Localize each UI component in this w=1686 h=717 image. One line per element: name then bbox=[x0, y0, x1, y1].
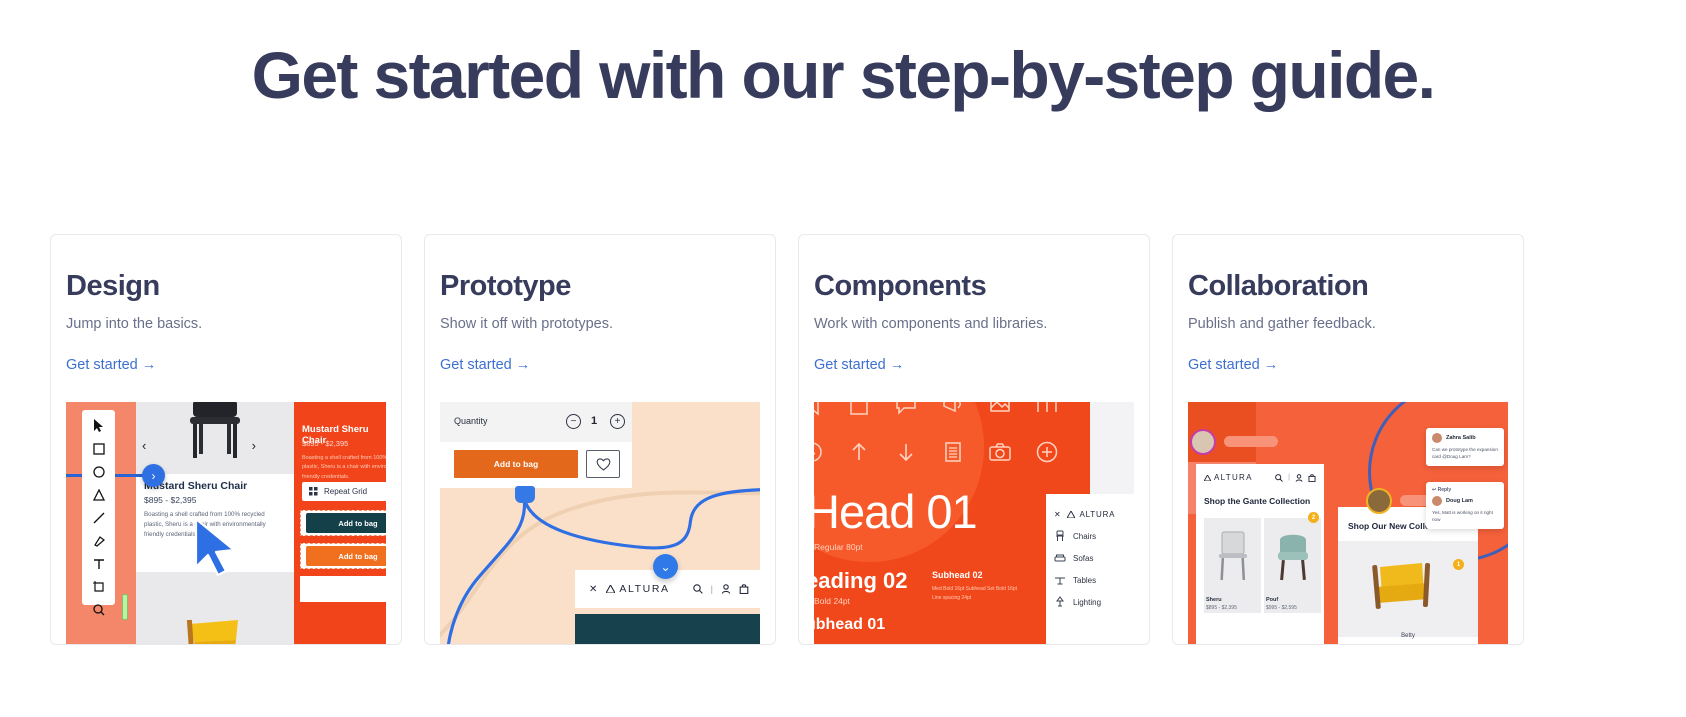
library-item-sofas[interactable]: Sofas bbox=[1054, 547, 1134, 569]
library-item-label: Sofas bbox=[1073, 554, 1093, 563]
selection-handle[interactable] bbox=[122, 594, 128, 620]
nav-icons: | bbox=[693, 584, 749, 594]
comment-body: Can we prototype the expansion card @Dou… bbox=[1432, 446, 1498, 461]
nav-divider: | bbox=[1288, 474, 1290, 481]
add-to-bag-button-dark[interactable]: Add to bag bbox=[306, 513, 386, 533]
chevron-down-icon[interactable]: ⌄ bbox=[653, 554, 678, 579]
comment-header: Doug Lam bbox=[1432, 496, 1498, 506]
heading-01-meta: Regular 80pt bbox=[814, 542, 863, 552]
rectangle-tool-icon[interactable] bbox=[92, 443, 106, 455]
grey-chair-icon bbox=[1213, 530, 1253, 582]
archive-icon bbox=[1035, 402, 1059, 416]
components-canvas: Head 01 Regular 80pt eading 02 Bold 24pt… bbox=[814, 402, 1134, 644]
product-name: Sheru bbox=[1206, 597, 1222, 603]
panel-brand-row: ✕ ALTURA bbox=[1054, 503, 1134, 525]
product-name: Pouf bbox=[1266, 597, 1278, 603]
hotspot-handle[interactable]: › bbox=[142, 464, 165, 487]
bag-icon[interactable] bbox=[1308, 474, 1316, 482]
heading-02-sample: eading 02 bbox=[814, 568, 907, 594]
account-icon[interactable] bbox=[1295, 474, 1303, 482]
card-illustration-design: ‹ › Mustard Sheru Chair $895 - $2,395 Bo… bbox=[66, 402, 386, 644]
product-price: $895 - $2,395 bbox=[144, 495, 196, 505]
line-tool-icon[interactable] bbox=[92, 512, 106, 524]
table-icon bbox=[1054, 574, 1066, 586]
grid-icon bbox=[309, 487, 318, 496]
card-title: Design bbox=[66, 270, 401, 303]
upload-icon bbox=[847, 440, 871, 464]
download-icon bbox=[894, 440, 918, 464]
footer-band bbox=[575, 614, 760, 644]
chair-icon bbox=[1054, 530, 1066, 542]
comment-card-doug[interactable]: ↩ Reply Doug Lam Yes, Matt is working on… bbox=[1426, 482, 1504, 529]
altura-mark-icon bbox=[1204, 475, 1211, 481]
card-components[interactable]: Components Work with components and libr… bbox=[798, 234, 1150, 645]
bookmark-icon bbox=[814, 402, 824, 416]
brand-logo: ALTURA bbox=[606, 583, 669, 595]
product-grid: Sheru $895 - $2,395 2 bbox=[1204, 518, 1324, 613]
get-started-link[interactable]: Get started → bbox=[1188, 357, 1278, 373]
card-illustration-collaboration: ALTURA | Shop the Gante Collection bbox=[1188, 402, 1508, 644]
clock-icon bbox=[814, 440, 824, 464]
chat-icon bbox=[894, 402, 918, 416]
nav-icons: | bbox=[1275, 474, 1316, 482]
library-item-label: Lighting bbox=[1073, 598, 1101, 607]
cursor-tool-icon[interactable] bbox=[92, 419, 106, 432]
search-icon[interactable] bbox=[693, 584, 703, 594]
wishlist-button[interactable] bbox=[586, 450, 620, 478]
card-title: Components bbox=[814, 270, 1149, 303]
browser-nav-1: ALTURA | bbox=[1196, 464, 1324, 482]
prototype-canvas: Quantity − 1 + Add to bag ⌄ bbox=[440, 402, 760, 644]
card-collaboration[interactable]: Collaboration Publish and gather feedbac… bbox=[1172, 234, 1524, 645]
comment-author: Doug Lam bbox=[1446, 498, 1473, 504]
quantity-label: Quantity bbox=[454, 416, 488, 426]
heading-02-meta: Bold 24pt bbox=[814, 596, 850, 606]
subhead-01-sample: ubhead 01 bbox=[814, 616, 885, 634]
card-subtitle: Work with components and libraries. bbox=[814, 316, 1149, 332]
camera-icon bbox=[988, 440, 1012, 464]
card-design[interactable]: Design Jump into the basics. Get started… bbox=[50, 234, 402, 645]
comment-header: Zahra Salib bbox=[1432, 433, 1498, 443]
artboard-tool-icon[interactable] bbox=[92, 581, 106, 593]
comment-badge-1[interactable]: 1 bbox=[1453, 559, 1464, 570]
search-icon[interactable] bbox=[1275, 474, 1283, 482]
ellipse-tool-icon[interactable] bbox=[92, 466, 106, 478]
yellow-chair-icon bbox=[184, 600, 246, 644]
browser-window-1: ALTURA | Shop the Gante Collection bbox=[1196, 464, 1324, 644]
product-label-betty: Betty bbox=[1401, 633, 1415, 639]
library-item-label: Tables bbox=[1073, 576, 1096, 585]
repeat-grid-label: Repeat Grid bbox=[324, 487, 367, 496]
comment-body: Yes, Matt is working on it right now bbox=[1432, 509, 1498, 524]
collection-title-1: Shop the Gante Collection bbox=[1204, 496, 1324, 506]
comment-author: Zahra Salib bbox=[1446, 435, 1476, 441]
brand-logo: ALTURA bbox=[1204, 473, 1253, 482]
quantity-decrement-button[interactable]: − bbox=[566, 414, 581, 429]
card-header: Components Work with components and libr… bbox=[799, 235, 1149, 374]
page-root: Get started with our step-by-step guide.… bbox=[0, 0, 1686, 717]
plus-icon bbox=[1035, 440, 1059, 464]
hero-product-image: 1 Betty bbox=[1338, 541, 1478, 637]
nav-divider: | bbox=[711, 584, 713, 594]
megaphone-icon bbox=[941, 402, 965, 416]
lamp-icon bbox=[1054, 596, 1066, 608]
presence-pill-1 bbox=[1224, 436, 1278, 447]
comment-badge-2[interactable]: 2 bbox=[1308, 512, 1319, 523]
library-item-chairs[interactable]: Chairs bbox=[1054, 525, 1134, 547]
tool-palette[interactable] bbox=[82, 410, 115, 605]
card-title: Prototype bbox=[440, 270, 775, 303]
card-grid: Design Jump into the basics. Get started… bbox=[50, 234, 1524, 645]
button-frame-3 bbox=[300, 576, 386, 602]
close-icon[interactable]: ✕ bbox=[1054, 510, 1062, 519]
card-illustration-prototype: Quantity − 1 + Add to bag ⌄ bbox=[440, 402, 760, 644]
avatar bbox=[1432, 496, 1442, 506]
get-started-link[interactable]: Get started → bbox=[66, 357, 156, 373]
card-prototype[interactable]: Prototype Show it off with prototypes. G… bbox=[424, 234, 776, 645]
product-price: $995 - $2,595 bbox=[1266, 605, 1297, 611]
close-icon[interactable]: ✕ bbox=[589, 584, 597, 595]
reply-label[interactable]: ↩ Reply bbox=[1432, 487, 1498, 493]
card-subtitle: Publish and gather feedback. bbox=[1188, 316, 1523, 332]
text-tool-icon[interactable] bbox=[92, 558, 106, 570]
altura-mark-icon bbox=[1067, 511, 1075, 518]
library-item-lighting[interactable]: Lighting bbox=[1054, 591, 1134, 613]
card-subtitle: Show it off with prototypes. bbox=[440, 316, 775, 332]
comment-card-zahra[interactable]: Zahra Salib Can we prototype the expansi… bbox=[1426, 428, 1504, 466]
get-started-link[interactable]: Get started → bbox=[814, 357, 904, 373]
design-canvas: ‹ › Mustard Sheru Chair $895 - $2,395 Bo… bbox=[66, 402, 386, 644]
icon-row-1 bbox=[814, 402, 1059, 416]
cart-module: Quantity − 1 + Add to bag bbox=[440, 402, 632, 488]
panel-product-description: Boasting a shell crafted from 100% recyc… bbox=[302, 454, 386, 482]
carousel-next-arrow[interactable]: › bbox=[252, 438, 256, 453]
add-to-bag-button[interactable]: Add to bag bbox=[454, 450, 578, 478]
quantity-increment-button[interactable]: + bbox=[610, 414, 625, 429]
subhead-02-meta: Med Bold 16pt Subhead Set Bold 16pt Line… bbox=[932, 585, 1022, 603]
quantity-value: 1 bbox=[591, 415, 597, 427]
product-image-area bbox=[136, 402, 294, 474]
collaboration-canvas: ALTURA | Shop the Gante Collection bbox=[1188, 402, 1508, 644]
heading-01-sample: Head 01 bbox=[814, 484, 977, 539]
zoom-tool-icon[interactable] bbox=[92, 604, 106, 616]
card-subtitle: Jump into the basics. bbox=[66, 316, 401, 332]
avatar bbox=[1432, 433, 1442, 443]
account-icon[interactable] bbox=[721, 584, 731, 594]
icon-row-2 bbox=[814, 440, 1059, 464]
add-to-bag-button-orange[interactable]: Add to bag bbox=[306, 546, 386, 566]
card-title: Collaboration bbox=[1188, 270, 1523, 303]
product-tile[interactable]: 2 Pouf $995 - $2,595 bbox=[1264, 518, 1321, 613]
library-panel[interactable]: ✕ ALTURA Chairs Sofas bbox=[1046, 494, 1134, 644]
altura-mark-icon bbox=[606, 585, 615, 593]
image-icon bbox=[988, 402, 1012, 416]
avatar-zahra[interactable] bbox=[1190, 429, 1216, 455]
brand-name: ALTURA bbox=[619, 583, 669, 595]
product-price: $895 - $2,395 bbox=[1206, 605, 1237, 611]
avatar-doug[interactable] bbox=[1366, 488, 1392, 514]
card-header: Design Jump into the basics. Get started… bbox=[51, 235, 401, 374]
brand-name: ALTURA bbox=[1214, 473, 1253, 482]
polygon-tool-icon[interactable] bbox=[92, 489, 106, 501]
carousel-prev-arrow[interactable]: ‹ bbox=[142, 438, 146, 453]
document-icon bbox=[941, 440, 965, 464]
heart-icon bbox=[596, 457, 611, 471]
subhead-02-sample: Subhead 02 bbox=[932, 570, 983, 580]
repeat-grid-button[interactable]: Repeat Grid bbox=[302, 482, 386, 501]
panel-product-price: $895 - $2,395 bbox=[302, 439, 348, 448]
sofa-icon bbox=[1054, 552, 1066, 564]
product-tile[interactable]: Sheru $895 - $2,395 bbox=[1204, 518, 1261, 613]
bag-icon bbox=[847, 402, 871, 416]
brand-name: ALTURA bbox=[1080, 510, 1116, 519]
library-item-tables[interactable]: Tables bbox=[1054, 569, 1134, 591]
get-started-link[interactable]: Get started → bbox=[440, 357, 530, 373]
teal-armchair-icon bbox=[1273, 530, 1313, 582]
yellow-armchair-icon bbox=[1364, 557, 1442, 619]
prototype-hotspot-handle[interactable] bbox=[515, 486, 535, 503]
library-item-label: Chairs bbox=[1073, 532, 1096, 541]
page-title: Get started with our step-by-step guide. bbox=[0, 38, 1686, 114]
cursor-pointer-icon bbox=[194, 517, 242, 577]
card-header: Prototype Show it off with prototypes. G… bbox=[425, 235, 775, 374]
black-chair-icon bbox=[179, 402, 251, 474]
card-header: Collaboration Publish and gather feedbac… bbox=[1173, 235, 1523, 374]
card-illustration-components: Head 01 Regular 80pt eading 02 Bold 24pt… bbox=[814, 402, 1134, 644]
pen-tool-icon[interactable] bbox=[92, 535, 106, 547]
bag-icon[interactable] bbox=[739, 584, 749, 594]
